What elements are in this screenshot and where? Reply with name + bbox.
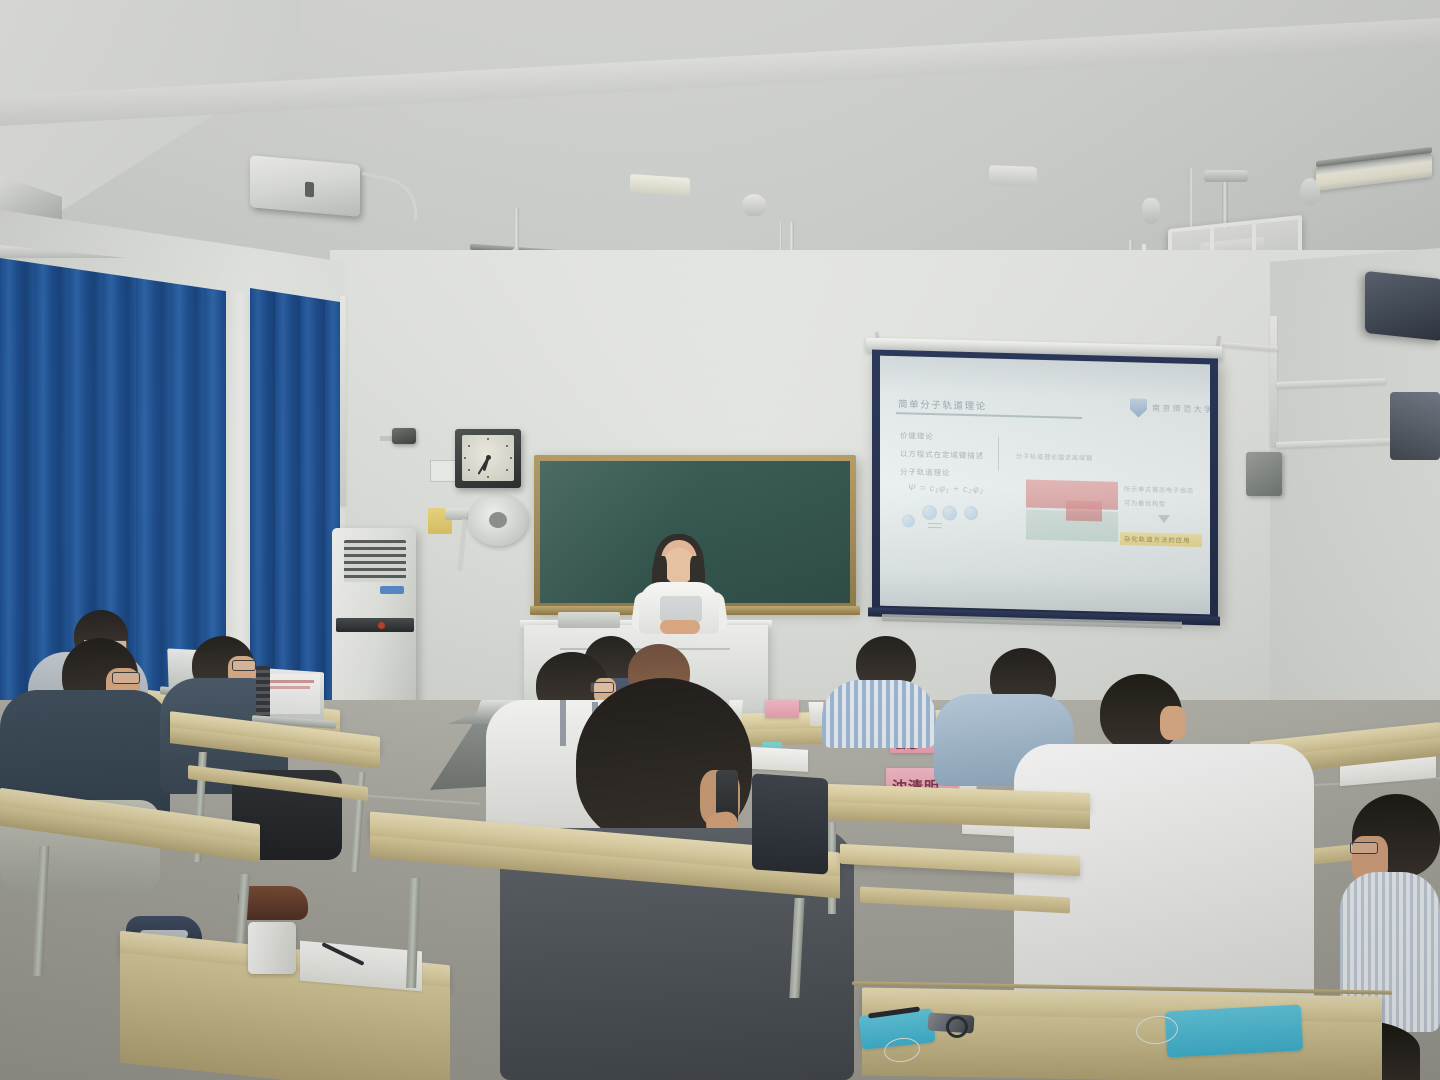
ceiling-fan-rod bbox=[514, 208, 519, 252]
slide-side-note: 分子轨道理论描述离域键 bbox=[1016, 451, 1093, 462]
keyring-icon bbox=[946, 1016, 968, 1038]
slide-brace bbox=[998, 437, 999, 471]
wall-conduit bbox=[340, 296, 346, 506]
rolled-paper[interactable] bbox=[248, 922, 296, 974]
orbital-icon bbox=[964, 506, 978, 520]
presenter-shirt-print bbox=[660, 596, 702, 622]
projector-stem bbox=[1222, 176, 1228, 228]
clock-center bbox=[486, 455, 491, 460]
glasses-icon bbox=[1350, 842, 1378, 854]
ac-power-indicator bbox=[378, 622, 385, 629]
projector-drop-rod bbox=[1188, 168, 1192, 228]
wall-speaker-grey bbox=[1246, 452, 1282, 496]
ceiling-fixture bbox=[989, 165, 1037, 187]
name-placard bbox=[765, 700, 799, 718]
wall-fan-hub bbox=[489, 512, 507, 528]
wall-speaker-right bbox=[1365, 271, 1440, 341]
classroom-photo: 简单分子轨道理论 南京师范大学 价键理论 以方程式在定域键描述 分子轨道理论 分… bbox=[0, 0, 1440, 1080]
slide-logo-text: 南京师范大学 bbox=[1152, 403, 1210, 416]
orbital-bond-line bbox=[928, 523, 942, 525]
ceiling-fitting bbox=[1300, 178, 1320, 206]
orbital-icon bbox=[922, 505, 937, 520]
orbital-icon bbox=[902, 514, 915, 527]
slide-equation: Ψ = c₁φ₁ + c₂φ₂ bbox=[908, 482, 984, 494]
ac-control-strip[interactable] bbox=[336, 618, 414, 632]
attendee-face bbox=[1160, 706, 1186, 740]
backpack[interactable] bbox=[752, 773, 828, 874]
face-mask[interactable] bbox=[1165, 1004, 1303, 1057]
clock-face bbox=[462, 435, 514, 481]
podium-panel bbox=[558, 612, 620, 628]
university-shield-icon bbox=[1130, 398, 1147, 417]
wall-outlet-plate bbox=[430, 460, 458, 482]
speaker-grill-icon bbox=[305, 182, 314, 198]
slide-highlight-text: 杂化轨道方法的应用 bbox=[1124, 534, 1191, 545]
attendee-torso-white-shirt bbox=[1014, 744, 1314, 1026]
attendee-torso-striped bbox=[822, 680, 936, 748]
glasses-icon bbox=[112, 672, 140, 684]
slide-body-line: 价键理论 bbox=[900, 430, 934, 442]
presenter-hands bbox=[660, 620, 700, 634]
glasses-icon bbox=[232, 660, 256, 671]
ceiling-mount-knob bbox=[742, 194, 766, 216]
slide-body-line: 以方程式在定域键描述 bbox=[900, 448, 984, 461]
ceiling-fitting bbox=[1142, 198, 1160, 224]
orbital-icon bbox=[942, 505, 957, 520]
glasses-icon bbox=[590, 682, 614, 693]
ac-brand-badge bbox=[380, 586, 404, 594]
slide-right-note: 所示单式基态电子组态 bbox=[1124, 484, 1194, 495]
wall-speaker-far-right bbox=[1390, 392, 1440, 460]
ac-vent-louvers bbox=[344, 540, 406, 582]
tablet-device[interactable] bbox=[256, 666, 270, 720]
orbital-bond-line bbox=[928, 527, 942, 529]
projector-ceiling-mount bbox=[1204, 170, 1248, 182]
slide-figure-inset bbox=[1066, 501, 1102, 522]
slide-title-rule bbox=[896, 412, 1082, 418]
clock-minute-hand bbox=[478, 457, 489, 474]
projector-screen: 简单分子轨道理论 南京师范大学 价键理论 以方程式在定域键描述 分子轨道理论 分… bbox=[880, 356, 1210, 615]
slide-right-note: 可为最优构型 bbox=[1124, 498, 1166, 508]
laptop-content-line bbox=[266, 680, 314, 683]
wall-conduit bbox=[1270, 316, 1277, 446]
down-arrow-icon bbox=[1158, 515, 1170, 523]
security-camera-icon bbox=[392, 428, 416, 444]
slide-title: 简单分子轨道理论 bbox=[898, 396, 987, 412]
lanyard bbox=[560, 700, 566, 746]
laptop-content-line bbox=[266, 686, 310, 689]
slide-body-line: 分子轨道理论 bbox=[900, 466, 950, 478]
